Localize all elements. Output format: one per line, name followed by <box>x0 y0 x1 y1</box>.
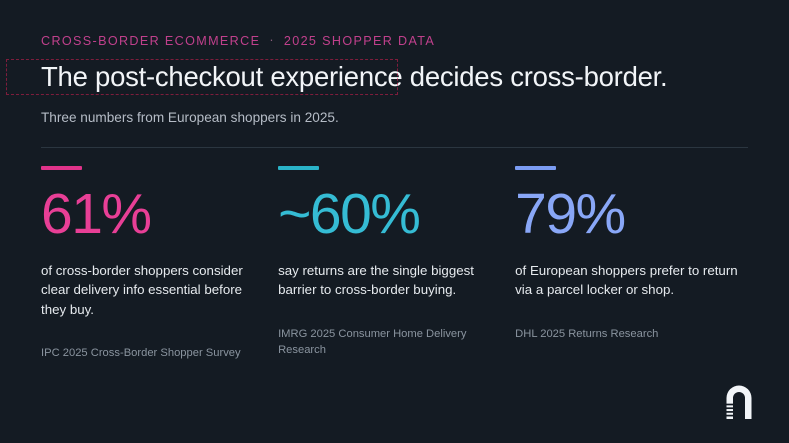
section-divider <box>41 147 748 148</box>
accent-bar <box>278 166 319 170</box>
stat-card: 61% of cross-border shoppers consider cl… <box>41 166 278 362</box>
stat-card: 79% of European shoppers prefer to retur… <box>515 166 751 362</box>
stat-description: of European shoppers prefer to return vi… <box>515 261 751 300</box>
stat-source: IPC 2025 Cross-Border Shopper Survey <box>41 345 248 361</box>
stat-description: of cross-border shoppers consider clear … <box>41 261 248 320</box>
eyebrow-left-label: CROSS-BORDER ECOMMERCE <box>41 34 260 48</box>
stat-value: 61% <box>41 187 248 242</box>
accent-bar <box>515 166 556 170</box>
eyebrow-separator-dot: · <box>269 34 275 47</box>
accent-bar <box>41 166 82 170</box>
page-subtitle: Three numbers from European shoppers in … <box>41 110 339 125</box>
stats-row: 61% of cross-border shoppers consider cl… <box>41 166 751 362</box>
stat-source: DHL 2025 Returns Research <box>515 326 730 342</box>
stat-value: ~60% <box>278 187 485 242</box>
eyebrow: CROSS-BORDER ECOMMERCE · 2025 SHOPPER DA… <box>41 34 435 48</box>
stat-card: ~60% say returns are the single biggest … <box>278 166 515 362</box>
page-title: The post-checkout experience decides cro… <box>41 60 667 94</box>
stat-source: IMRG 2025 Consumer Home Delivery Researc… <box>278 326 485 358</box>
stat-description: say returns are the single biggest barri… <box>278 261 485 300</box>
infographic-poster: CROSS-BORDER ECOMMERCE · 2025 SHOPPER DA… <box>0 0 789 443</box>
arch-mark-logo <box>721 381 757 421</box>
stat-value: 79% <box>515 187 751 242</box>
eyebrow-right-label: 2025 SHOPPER DATA <box>284 34 435 48</box>
